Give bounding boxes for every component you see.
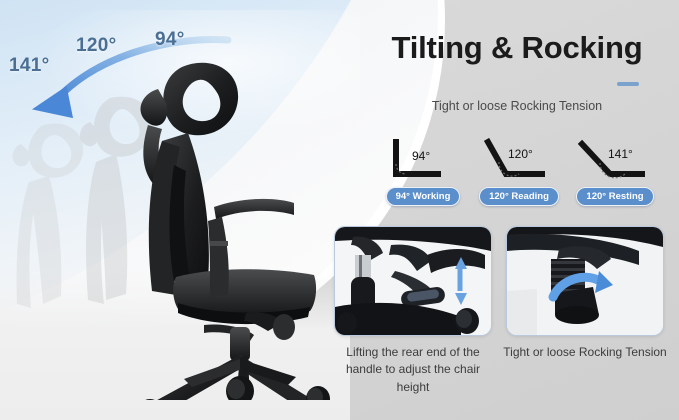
- angle-label-141: 141°: [9, 55, 50, 77]
- panel-height-adjust: [334, 226, 492, 336]
- angle-94-icon: 94°: [386, 138, 460, 182]
- chair-94: [118, 55, 333, 400]
- page-subtitle: Tight or loose Rocking Tension: [372, 99, 662, 113]
- page-title: Tilting & Rocking: [372, 30, 662, 66]
- angle-mode-working: 94° 94° Working: [378, 138, 468, 206]
- angle-mode-row: 94° 94° Working 120° 120° Reading 141° 1…: [378, 128, 660, 206]
- caption-height-adjust: Lifting the rear end of the handle to ad…: [330, 344, 496, 396]
- angle-label-120: 120°: [76, 35, 117, 57]
- caption-rocking-tension: Tight or loose Rocking Tension: [502, 344, 668, 361]
- height-adjust-photo: [335, 227, 491, 335]
- badge-working: 94° Working: [386, 187, 461, 206]
- badge-resting: 120° Resting: [576, 187, 653, 206]
- angle-141-value: 141°: [608, 147, 633, 161]
- angle-141-icon: 141°: [578, 138, 652, 182]
- rocking-tension-photo: [507, 227, 663, 335]
- infographic-canvas: 141° 120° 94°: [0, 0, 679, 420]
- angle-120-value: 120°: [508, 147, 533, 161]
- angle-mode-resting: 141° 120° Resting: [570, 138, 660, 206]
- badge-reading: 120° Reading: [479, 187, 559, 206]
- panel-rocking-tension: [506, 226, 664, 336]
- angle-label-94: 94°: [155, 29, 185, 51]
- angle-94-value: 94°: [412, 149, 430, 163]
- angle-120-icon: 120°: [482, 138, 556, 182]
- title-accent-dash: [617, 82, 639, 86]
- angle-mode-reading: 120° 120° Reading: [474, 138, 564, 206]
